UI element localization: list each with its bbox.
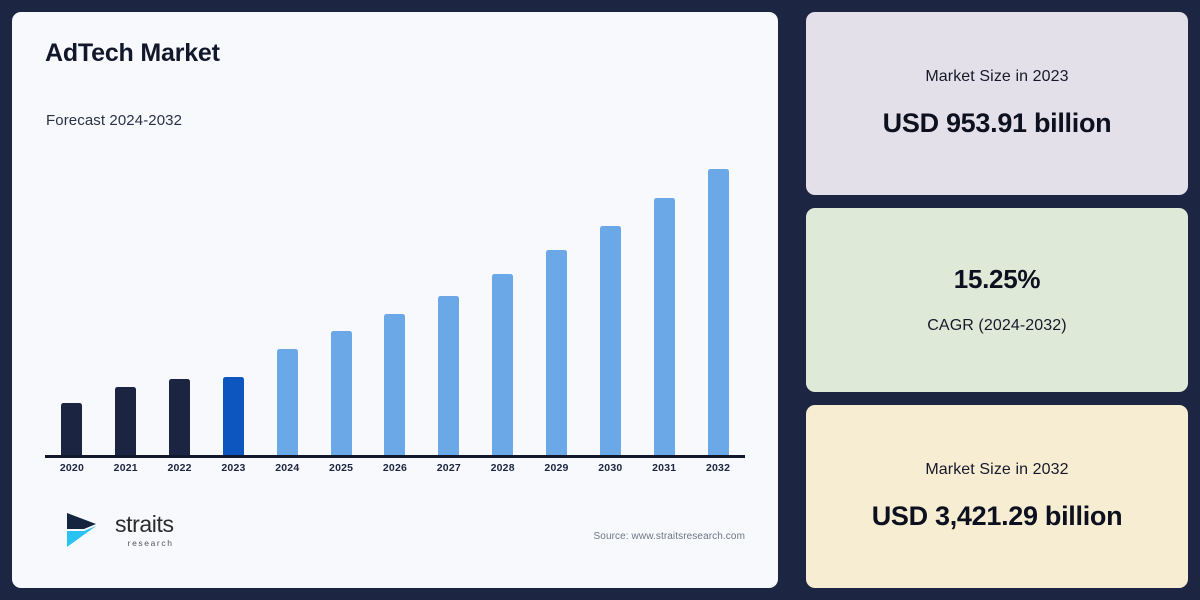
bar-slot bbox=[314, 154, 368, 457]
stat-label: CAGR (2024-2032) bbox=[927, 317, 1066, 335]
x-label-2031: 2031 bbox=[637, 462, 691, 474]
bar-2027 bbox=[438, 296, 459, 457]
bar-2023 bbox=[223, 377, 244, 457]
bar-2026 bbox=[384, 314, 405, 457]
bar-chart: 2020202120222023202420252026202720282029… bbox=[45, 152, 745, 457]
bar-slot bbox=[476, 154, 530, 457]
bar-2022 bbox=[169, 379, 190, 457]
bar-2031 bbox=[654, 198, 675, 457]
bar-slot bbox=[530, 154, 584, 457]
bar-slot bbox=[153, 154, 207, 457]
bar-slot bbox=[45, 154, 99, 457]
stat-value: USD 953.91 billion bbox=[883, 108, 1112, 139]
x-label-2029: 2029 bbox=[530, 462, 584, 474]
x-axis-line bbox=[45, 455, 745, 458]
stat-label: Market Size in 2032 bbox=[925, 461, 1068, 479]
stat-card-market-size-2023: Market Size in 2023USD 953.91 billion bbox=[806, 12, 1188, 195]
infographic-root: AdTech Market Forecast 2024-2032 2020202… bbox=[0, 0, 1200, 600]
bar-2032 bbox=[708, 169, 729, 457]
bar-slot bbox=[207, 154, 261, 457]
bar-series bbox=[45, 154, 745, 457]
bar-slot bbox=[99, 154, 153, 457]
brand-name: straits bbox=[115, 513, 174, 536]
x-label-2027: 2027 bbox=[422, 462, 476, 474]
stat-card-list: Market Size in 2023USD 953.91 billion15.… bbox=[778, 12, 1188, 588]
bar-slot bbox=[691, 154, 745, 457]
stat-value: USD 3,421.29 billion bbox=[872, 501, 1123, 532]
stat-label: Market Size in 2023 bbox=[925, 68, 1068, 86]
x-label-2032: 2032 bbox=[691, 462, 745, 474]
x-label-2030: 2030 bbox=[583, 462, 637, 474]
straits-arrow-logo-icon bbox=[64, 510, 106, 550]
brand-logo: straits research bbox=[64, 510, 174, 550]
bar-slot bbox=[637, 154, 691, 457]
bar-2024 bbox=[277, 349, 298, 457]
bar-slot bbox=[368, 154, 422, 457]
brand-wordmark: straits research bbox=[115, 513, 174, 548]
bar-slot bbox=[422, 154, 476, 457]
x-axis-tick-labels: 2020202120222023202420252026202720282029… bbox=[45, 462, 745, 474]
bar-slot bbox=[583, 154, 637, 457]
x-label-2022: 2022 bbox=[153, 462, 207, 474]
x-label-2026: 2026 bbox=[368, 462, 422, 474]
x-label-2024: 2024 bbox=[260, 462, 314, 474]
bar-2030 bbox=[600, 226, 621, 457]
chart-panel: AdTech Market Forecast 2024-2032 2020202… bbox=[12, 12, 778, 588]
bar-2028 bbox=[492, 274, 513, 457]
stat-value: 15.25% bbox=[954, 264, 1040, 295]
bar-2021 bbox=[115, 387, 136, 457]
x-label-2021: 2021 bbox=[99, 462, 153, 474]
bar-2029 bbox=[546, 250, 567, 457]
bar-slot bbox=[260, 154, 314, 457]
bar-2020 bbox=[61, 403, 82, 457]
bar-2025 bbox=[331, 331, 352, 457]
panel-subtitle: Forecast 2024-2032 bbox=[46, 112, 182, 129]
page-title: AdTech Market bbox=[45, 39, 220, 68]
source-note: Source: www.straitsresearch.com bbox=[594, 531, 745, 542]
x-label-2023: 2023 bbox=[207, 462, 261, 474]
x-label-2028: 2028 bbox=[476, 462, 530, 474]
stat-card-cagr: 15.25%CAGR (2024-2032) bbox=[806, 208, 1188, 391]
x-label-2020: 2020 bbox=[45, 462, 99, 474]
brand-tagline: research bbox=[128, 539, 174, 548]
stat-card-market-size-2032: Market Size in 2032USD 3,421.29 billion bbox=[806, 405, 1188, 588]
x-label-2025: 2025 bbox=[314, 462, 368, 474]
